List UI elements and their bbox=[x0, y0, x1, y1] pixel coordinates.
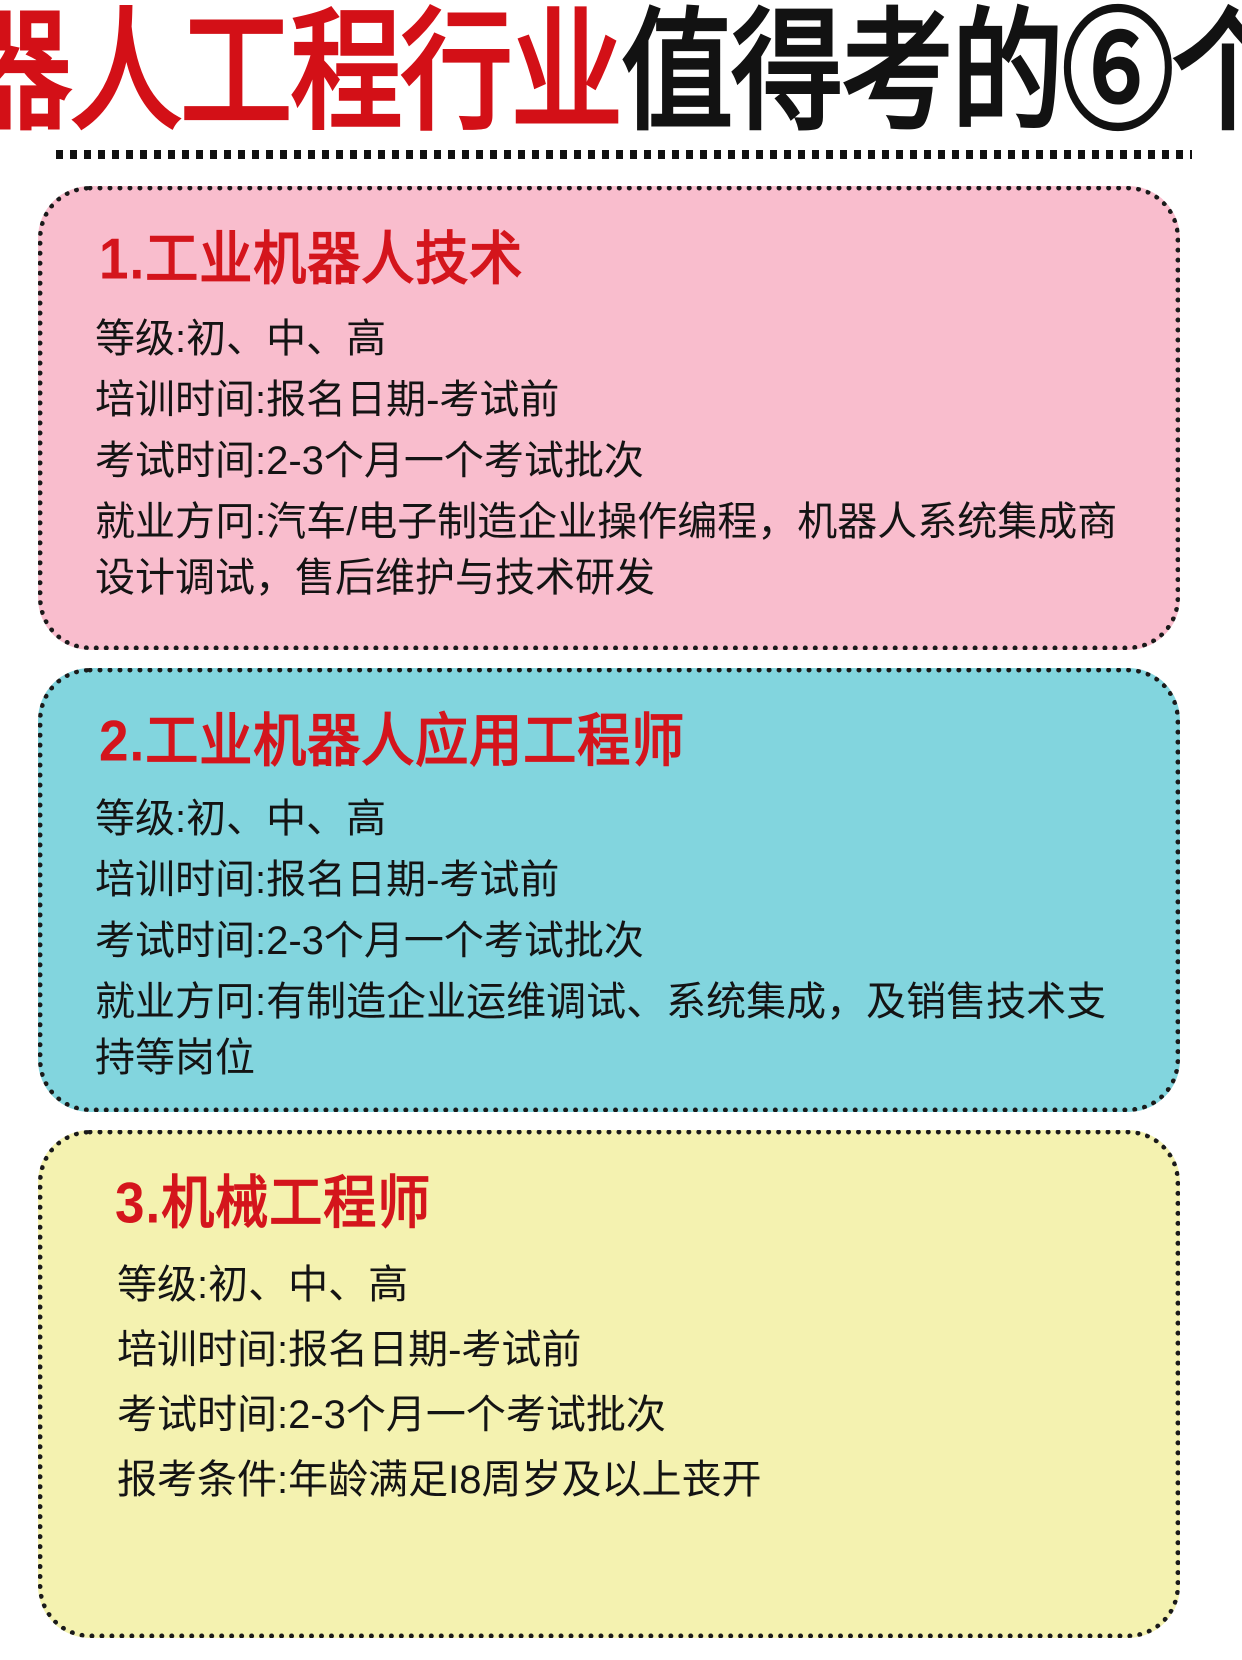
detail-line-level: 等级:初、中、高 bbox=[117, 1255, 1131, 1316]
detail-line-exam-time: 考试时间:2-3个月一个考试批次 bbox=[117, 1385, 1131, 1446]
detail-line-exam-time: 考试时间:2-3个月一个考试批次 bbox=[95, 913, 1131, 970]
certificate-card-2-heading: 2.工业机器人应用工程师 bbox=[99, 711, 1131, 774]
page-title: 机器人工程行业值得考的⑥个证 bbox=[0, 8, 1242, 140]
detail-line-exam-time: 考试时间:2-3个月一个考试批次 bbox=[95, 433, 1131, 490]
page-title-black-segment: 值得考的⑥个证 bbox=[621, 0, 1242, 147]
certificate-card-3-details: 等级:初、中、高 培训时间:报名日期-考试前 考试时间:2-3个月一个考试批次 … bbox=[117, 1255, 1131, 1510]
certificate-card-1: 1.工业机器人技术 等级:初、中、高 培训时间:报名日期-考试前 考试时间:2-… bbox=[38, 186, 1180, 650]
certificate-card-3-heading: 3.机械工程师 bbox=[115, 1173, 1131, 1236]
page-title-red-segment: 机器人工程行业 bbox=[0, 0, 621, 147]
certificate-card-2: 2.工业机器人应用工程师 等级:初、中、高 培训时间:报名日期-考试前 考试时间… bbox=[38, 668, 1180, 1112]
detail-line-level: 等级:初、中、高 bbox=[95, 311, 1131, 368]
detail-line-application-requirement: 报考条件:年龄满足I8周岁及以上丧开 bbox=[117, 1450, 1131, 1511]
certificate-card-1-heading: 1.工业机器人技术 bbox=[99, 229, 1131, 292]
poster-title-bar: 机器人工程行业值得考的⑥个证 bbox=[0, 0, 1242, 148]
detail-line-career-direction: 就业方冋:汽车/电子制造企业操作编程，机器人系统集成商设计调试，售后维护与技术研… bbox=[95, 494, 1131, 608]
detail-line-training-time: 培训时间:报名日期-考试前 bbox=[117, 1320, 1131, 1381]
certificate-card-2-details: 等级:初、中、高 培训时间:报名日期-考试前 考试时间:2-3个月一个考试批次 … bbox=[95, 791, 1131, 1087]
detail-line-career-direction: 就业方冋:有制造企业运维调试、系统集成，及销售技术支持等岗位 bbox=[95, 974, 1131, 1088]
certificate-card-3: 3.机械工程师 等级:初、中、高 培训时间:报名日期-考试前 考试时间:2-3个… bbox=[38, 1130, 1180, 1638]
certificate-card-1-details: 等级:初、中、高 培训时间:报名日期-考试前 考试时间:2-3个月一个考试批次 … bbox=[95, 311, 1131, 607]
detail-line-training-time: 培训时间:报名日期-考试前 bbox=[95, 372, 1131, 429]
detail-line-training-time: 培训时间:报名日期-考试前 bbox=[95, 852, 1131, 909]
dotted-divider bbox=[56, 150, 1192, 159]
detail-line-level: 等级:初、中、高 bbox=[95, 791, 1131, 848]
